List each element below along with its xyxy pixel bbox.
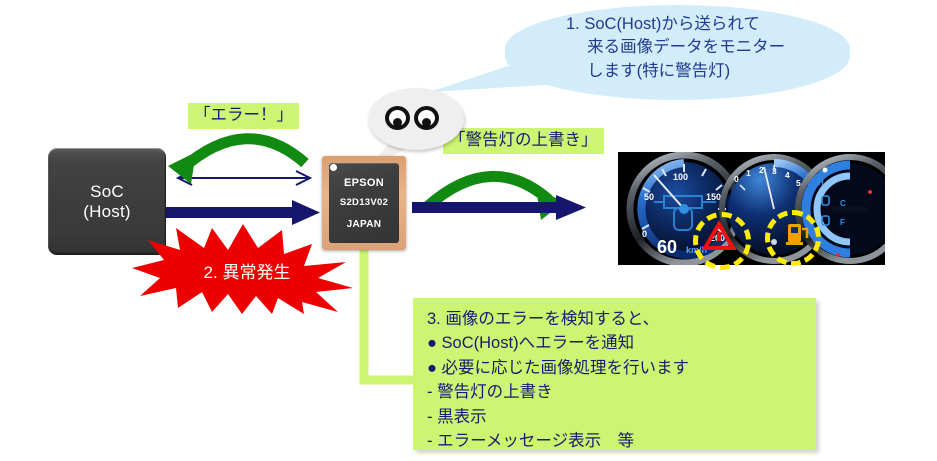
warning-highlight-circle — [693, 212, 751, 270]
instrument-cluster-image: 0 50 100 150 200 60 — [618, 152, 885, 265]
speed-tick-0: 0 — [642, 229, 647, 239]
tach-tick-1: 1 — [746, 168, 751, 178]
eye-left-icon — [385, 106, 410, 130]
tach-tick-4: 4 — [785, 170, 790, 180]
fuel-highlight-circle — [765, 210, 821, 266]
pupil-right — [422, 118, 431, 127]
error-callout-label: 「エラー！」 — [188, 103, 299, 129]
speed-tick-100: 100 — [673, 172, 688, 182]
overwrite-callout-label: 「警告灯の上書き」 — [443, 128, 604, 154]
error-handling-info-text: 3. 画像のエラーを検知すると、 ● SoC(Host)へエラーを通知 ● 必要… — [427, 307, 806, 453]
soc-host-label: SoC (Host) — [83, 182, 130, 221]
diagram-canvas: SoC (Host) EPSON S2D13V02 JAPAN 「エラー！」 「… — [0, 0, 937, 461]
gauge-letter-h: H — [818, 178, 824, 187]
speed-tick-50: 50 — [644, 192, 654, 202]
gauge-letter-f: F — [840, 218, 845, 227]
pupil-left — [393, 118, 402, 127]
speed-tick-150: 150 — [706, 192, 721, 202]
green-curved-arrow-right — [428, 176, 564, 220]
tach-tick-2: 2 — [759, 165, 764, 175]
eyes-watching-bubble — [368, 88, 464, 150]
anomaly-starburst-text: 2. 異常発生 — [172, 258, 322, 283]
navy-double-headed-arrow — [178, 171, 310, 185]
tach-tick-0: 0 — [734, 174, 739, 184]
chip-part-number-label: S2D13V02 — [329, 197, 399, 208]
monitor-speech-bubble-text: 1. SoC(Host)から送られて 来る画像データをモニター します(特に警告… — [566, 13, 846, 83]
error-handling-info-box: 3. 画像のエラーを検知すると、 ● SoC(Host)へエラーを通知 ● 必要… — [413, 298, 816, 450]
chip-brand-label: EPSON — [329, 177, 399, 189]
eye-right-icon — [414, 106, 439, 130]
cluster-graphics: 0 50 100 150 200 60 — [618, 152, 885, 265]
pin1-dot-icon — [330, 164, 337, 171]
speed-readout: 60 — [657, 237, 677, 257]
